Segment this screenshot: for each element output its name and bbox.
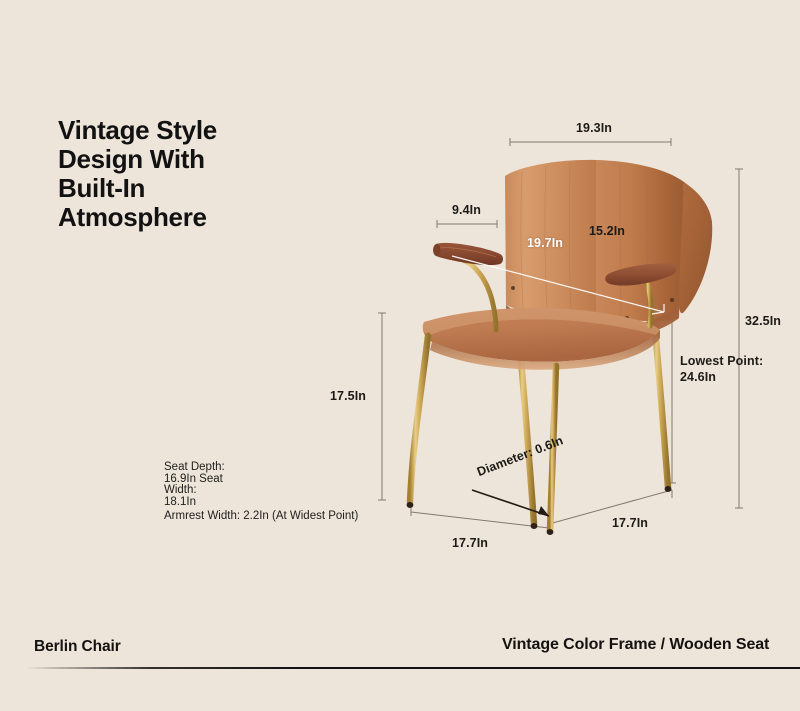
spec-line-armrest-width: Armrest Width: 2.2In (At Widest Point) [164,509,394,523]
spec-line-seat-width-label: Width: [164,485,394,497]
dim-top-width: 19.3In [576,121,612,135]
spec-line-seat-width-value: 18.1In [164,497,394,509]
diameter-arrow-head [538,506,549,516]
dim-base-width-front: 17.7In [452,536,488,550]
product-spec-poster: Vintage Style Design With Built-In Atmos… [0,0,800,711]
dim-total-height: 32.5In [745,314,781,328]
leg-tip [531,523,538,529]
dim-armrest-length: 9.4In [452,203,481,217]
leg-tip [665,486,672,492]
product-name-label: Berlin Chair [34,638,121,656]
footer-divider [0,667,800,669]
dim-lowest-point: Lowest Point: 24.6In [680,353,763,385]
spec-text-block: Seat Depth: 16.9In Seat Width: 18.1In Ar… [164,462,394,523]
dim-seat-height: 17.5In [330,389,366,403]
diameter-arrow-line [472,490,549,516]
spec-line-seat-depth-value: 16.9In Seat [164,474,394,486]
dim-base-width-side: 17.7In [612,516,648,530]
screw-dot [511,286,515,290]
dim-backrest-height: 15.2In [589,224,625,238]
armrest-cap [434,244,441,256]
chair-leg-front-left [410,336,428,503]
material-description: Vintage Color Frame / Wooden Seat [502,636,769,654]
screw-dot [670,298,674,302]
spec-line-seat-depth-label: Seat Depth: [164,462,394,474]
dim-diagonal-depth: 19.7In [527,236,563,250]
backrest-wing [679,182,712,313]
armrest-left [433,243,503,265]
leg-tip [407,502,414,508]
leg-tip [547,529,554,535]
